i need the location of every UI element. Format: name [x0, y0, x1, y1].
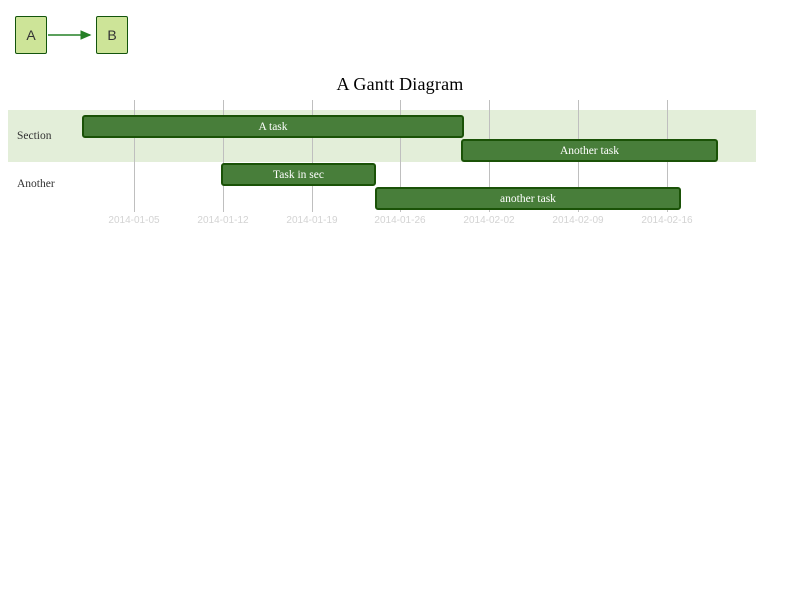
gantt-axis-tick-label: 2014-01-26	[374, 215, 425, 226]
gantt-title: A Gantt Diagram	[0, 74, 800, 95]
gantt-task-label: Another task	[560, 145, 619, 157]
gantt-chart: A Gantt Diagram Section Another A task A…	[0, 0, 800, 240]
gantt-task-bar[interactable]: another task	[375, 187, 681, 210]
gantt-axis-tick-label: 2014-02-02	[463, 215, 514, 226]
gantt-task-bar[interactable]: Task in sec	[221, 163, 376, 186]
gantt-axis-tick-label: 2014-01-05	[108, 215, 159, 226]
gantt-task-bar[interactable]: Another task	[461, 139, 718, 162]
gantt-axis-tick-label: 2014-01-12	[197, 215, 248, 226]
gantt-axis-tick-label: 2014-02-09	[552, 215, 603, 226]
gantt-task-label: A task	[258, 121, 287, 133]
gantt-task-label: Task in sec	[273, 169, 324, 181]
gantt-axis-tick-label: 2014-01-19	[286, 215, 337, 226]
gantt-task-bar[interactable]: A task	[82, 115, 464, 138]
gantt-section-label-another: Another	[17, 178, 55, 190]
gantt-axis-tick-label: 2014-02-16	[641, 215, 692, 226]
gantt-section-label-section: Section	[17, 130, 52, 142]
gantt-task-label: another task	[500, 193, 556, 205]
